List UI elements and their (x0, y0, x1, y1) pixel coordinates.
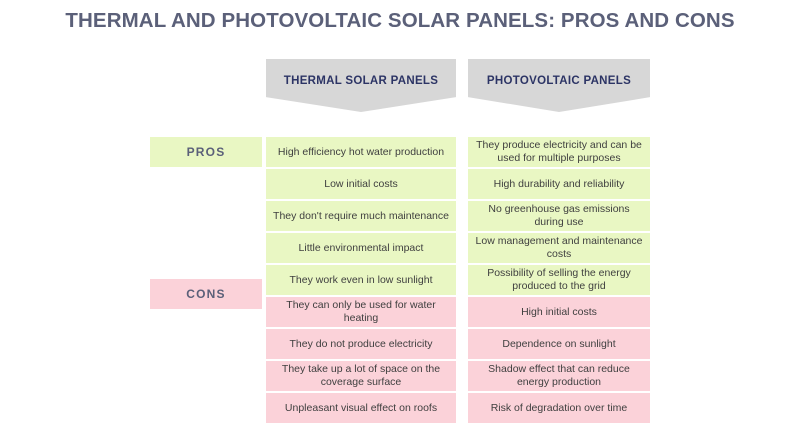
table-cell: Risk of degradation over time (468, 393, 650, 423)
column-header-thermal: THERMAL SOLAR PANELS (266, 59, 456, 112)
comparison-infographic: THERMAL AND PHOTOVOLTAIC SOLAR PANELS: P… (0, 0, 800, 400)
table-cell: Dependence on sunlight (468, 329, 650, 359)
page-title: THERMAL AND PHOTOVOLTAIC SOLAR PANELS: P… (0, 9, 800, 33)
section-label-pros-text: PROS (187, 145, 226, 159)
table-cell: High durability and reliability (468, 169, 650, 199)
table-cell: Little environmental impact (266, 233, 456, 263)
table-cell: They don't require much maintenance (266, 201, 456, 231)
table-cell: They work even in low sunlight (266, 265, 456, 295)
table-cell: Low initial costs (266, 169, 456, 199)
table-cell: Low management and maintenance costs (468, 233, 650, 263)
table-cell: High initial costs (468, 297, 650, 327)
column-thermal-cells: High efficiency hot water production Low… (266, 137, 456, 423)
table-cell: They produce electricity and can be used… (468, 137, 650, 167)
column-photovoltaic-cells: They produce electricity and can be used… (468, 137, 650, 423)
table-cell: No greenhouse gas emissions during use (468, 201, 650, 231)
table-cell: They can only be used for water heating (266, 297, 456, 327)
section-label-cons-text: CONS (186, 287, 225, 301)
column-header-photovoltaic-label: PHOTOVOLTAIC PANELS (487, 75, 631, 87)
table-cell: They take up a lot of space on the cover… (266, 361, 456, 391)
table-cell: Unpleasant visual effect on roofs (266, 393, 456, 423)
table-cell: They do not produce electricity (266, 329, 456, 359)
table-cell: High efficiency hot water production (266, 137, 456, 167)
section-label-pros: PROS (150, 137, 262, 167)
section-label-cons: CONS (150, 279, 262, 309)
column-header-photovoltaic: PHOTOVOLTAIC PANELS (468, 59, 650, 112)
table-cell: Possibility of selling the energy produc… (468, 265, 650, 295)
table-cell: Shadow effect that can reduce energy pro… (468, 361, 650, 391)
column-header-thermal-label: THERMAL SOLAR PANELS (284, 75, 438, 87)
